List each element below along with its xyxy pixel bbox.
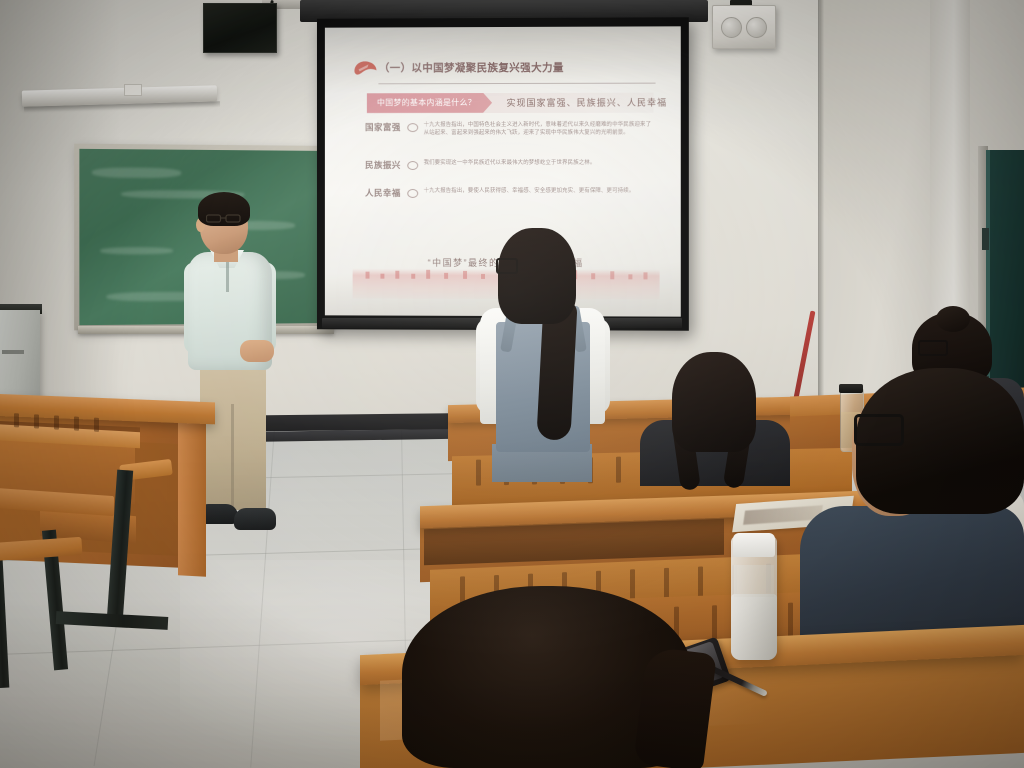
slide-title: （一）以中国梦凝聚民族复兴强大力量 — [379, 60, 564, 76]
bullet-ring-icon — [408, 161, 419, 170]
slide-bullet-3: 人民幸福 十九大报告指出，要使人民获得感、幸福感、安全感更加充实、更有保障、更可… — [365, 187, 655, 199]
bullet-label: 国家富强 — [365, 121, 405, 133]
slide-question-row: 中国梦的基本内涵是什么？ 实现国家富强、民族振兴、人民幸福 — [367, 92, 653, 113]
podium-leg — [178, 407, 206, 576]
slide-bullet-2: 民族振兴 我们要实现这一中华民族近代以来最伟大的梦想屹立于世界民族之林。 — [365, 159, 655, 171]
slide-question-answer: 实现国家富强、民族振兴、人民幸福 — [506, 92, 667, 112]
slide-question-pill: 中国梦的基本内涵是什么？ — [367, 93, 492, 113]
water-bottle-white-cap-icon[interactable] — [733, 533, 775, 557]
door-hinge — [982, 228, 989, 250]
bullet-ring-icon — [408, 189, 419, 198]
bullet-label: 民族振兴 — [365, 159, 405, 171]
teacher-glasses-icon — [206, 214, 242, 223]
bullet-text: 十九大报告指出，要使人民获得感、幸福感、安全感更加充实、更有保障、更可持续。 — [424, 187, 656, 195]
light-clip — [124, 84, 142, 96]
bullet-ring-icon — [408, 123, 419, 132]
student-bun-glasses-icon — [918, 340, 948, 356]
wall-speaker-left-icon — [203, 3, 277, 53]
bullet-text: 十九大报告指出，中国特色社会主义进入新时代，意味着近代以来久经磨难的中华民族迎来… — [424, 121, 656, 138]
bullet-text: 我们要实现这一中华民族近代以来最伟大的梦想屹立于世界民族之林。 — [424, 159, 656, 167]
teacher-placket — [226, 262, 229, 292]
slide-divider — [379, 82, 655, 84]
standing-student-glasses-icon — [496, 258, 518, 274]
classroom-photo: （一）以中国梦凝聚民族复兴强大力量 中国梦的基本内涵是什么？ 实现国家富强、民族… — [0, 0, 1024, 768]
bullet-label: 人民幸福 — [365, 187, 405, 199]
bottle-cap-icon — [839, 384, 863, 393]
teacher-shoe-right — [234, 508, 276, 530]
standing-student-hair — [498, 228, 576, 324]
student-hair-bun — [936, 306, 970, 332]
slide-bullet-1: 国家富强 十九大报告指出，中国特色社会主义进入新时代，意味着近代以来久经磨难的中… — [365, 121, 655, 138]
teacher-hands — [240, 340, 274, 362]
teacher-leg-seam — [231, 404, 234, 510]
student-glasses-male-glasses-icon — [854, 414, 904, 446]
ccp-emblem-icon — [353, 59, 379, 81]
cabinet-handle[interactable] — [2, 350, 24, 354]
metal-cabinet — [0, 310, 40, 406]
student-braids-hair — [672, 352, 756, 452]
wall-speaker-right-icon — [712, 5, 776, 49]
